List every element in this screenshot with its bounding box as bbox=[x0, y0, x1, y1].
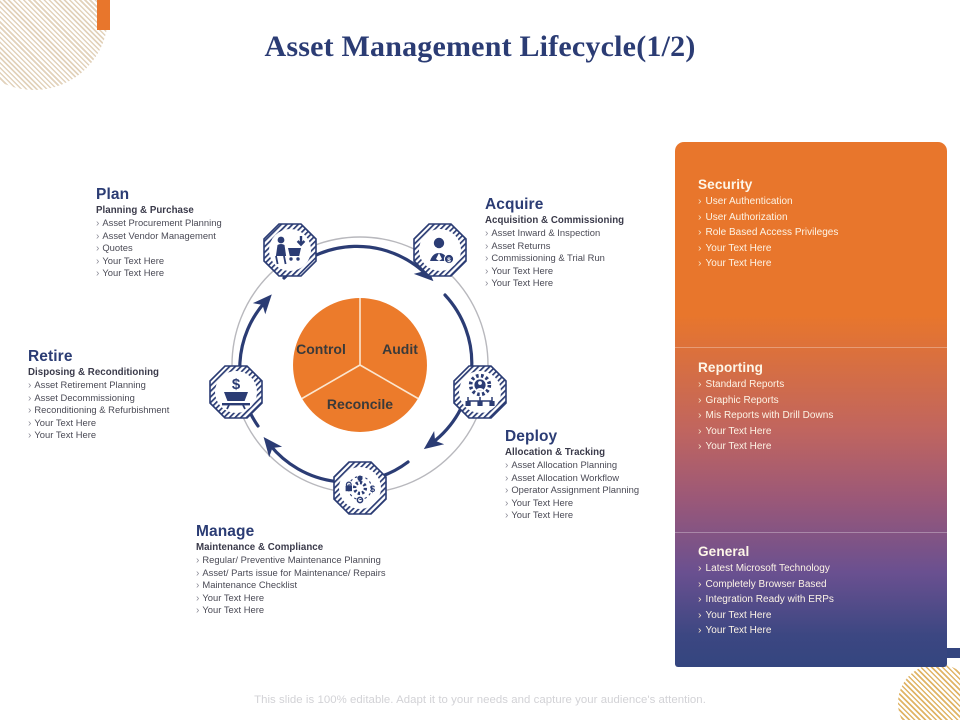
page-title: Asset Management Lifecycle(1/2) bbox=[0, 30, 960, 64]
node-manage-icon: $ bbox=[334, 462, 386, 514]
wheel-label-audit: Audit bbox=[382, 341, 418, 357]
panel-section-general: General Latest Microsoft Technology Comp… bbox=[675, 544, 947, 639]
list-item: Your Text Here bbox=[485, 265, 624, 278]
list-item: Your Text Here bbox=[698, 608, 947, 624]
list-item: Commissioning & Trial Run bbox=[485, 252, 624, 265]
stage-list-retire: Asset Retirement Planning Asset Decommis… bbox=[28, 379, 169, 442]
list-item: Your Text Here bbox=[28, 429, 169, 442]
panel-list-general: Latest Microsoft Technology Completely B… bbox=[698, 561, 947, 639]
stage-subtitle-acquire: Acquisition & Commissioning bbox=[485, 215, 624, 226]
stage-block-acquire: Acquire Acquisition & Commissioning Asse… bbox=[485, 196, 624, 290]
list-item: Your Text Here bbox=[96, 255, 222, 268]
list-item: Your Text Here bbox=[698, 241, 947, 257]
list-item: Graphic Reports bbox=[698, 393, 947, 409]
list-item: Your Text Here bbox=[485, 277, 624, 290]
stage-subtitle-deploy: Allocation & Tracking bbox=[505, 447, 639, 458]
list-item: Asset Allocation Planning bbox=[505, 459, 639, 472]
list-item: Asset Inward & Inspection bbox=[485, 227, 624, 240]
stage-block-manage: Manage Maintenance & Compliance Regular/… bbox=[196, 523, 386, 617]
list-item: Maintenance Checklist bbox=[196, 579, 386, 592]
decorative-bar-top-left-icon bbox=[97, 0, 110, 30]
list-item: Your Text Here bbox=[698, 256, 947, 272]
stage-block-retire: Retire Disposing & Reconditioning Asset … bbox=[28, 348, 169, 442]
stage-list-acquire: Asset Inward & Inspection Asset Returns … bbox=[485, 227, 624, 290]
stage-title-deploy: Deploy bbox=[505, 428, 639, 446]
stage-list-deploy: Asset Allocation Planning Asset Allocati… bbox=[505, 459, 639, 522]
list-item: Your Text Here bbox=[196, 592, 386, 605]
list-item: Mis Reports with Drill Downs bbox=[698, 408, 947, 424]
panel-divider bbox=[675, 532, 947, 533]
panel-title-reporting: Reporting bbox=[698, 360, 947, 375]
list-item: Asset Procurement Planning bbox=[96, 217, 222, 230]
list-item: Asset Returns bbox=[485, 240, 624, 253]
svg-text:$: $ bbox=[232, 376, 241, 393]
list-item: Your Text Here bbox=[505, 509, 639, 522]
feature-panel: Security User Authentication User Author… bbox=[675, 142, 947, 667]
stage-block-deploy: Deploy Allocation & Tracking Asset Alloc… bbox=[505, 428, 639, 522]
list-item: Asset Retirement Planning bbox=[28, 379, 169, 392]
stage-title-retire: Retire bbox=[28, 348, 169, 366]
stage-block-plan: Plan Planning & Purchase Asset Procureme… bbox=[96, 186, 222, 280]
wheel-label-control: Control bbox=[296, 341, 346, 357]
list-item: Asset Decommissioning bbox=[28, 392, 169, 405]
list-item: Completely Browser Based bbox=[698, 577, 947, 593]
stage-subtitle-retire: Disposing & Reconditioning bbox=[28, 367, 169, 378]
stage-title-acquire: Acquire bbox=[485, 196, 624, 214]
list-item: Role Based Access Privileges bbox=[698, 225, 947, 241]
stage-subtitle-manage: Maintenance & Compliance bbox=[196, 542, 386, 553]
stage-subtitle-plan: Planning & Purchase bbox=[96, 205, 222, 216]
list-item: Your Text Here bbox=[96, 267, 222, 280]
list-item: Your Text Here bbox=[698, 439, 947, 455]
panel-list-security: User Authentication User Authorization R… bbox=[698, 194, 947, 272]
list-item: Asset Vendor Management bbox=[96, 230, 222, 243]
panel-section-security: Security User Authentication User Author… bbox=[675, 177, 947, 272]
list-item: Latest Microsoft Technology bbox=[698, 561, 947, 577]
list-item: Your Text Here bbox=[698, 623, 947, 639]
list-item: Operator Assignment Planning bbox=[505, 484, 639, 497]
list-item: Reconditioning & Refurbishment bbox=[28, 404, 169, 417]
list-item: Regular/ Preventive Maintenance Planning bbox=[196, 554, 386, 567]
node-plan-icon bbox=[264, 224, 316, 276]
list-item: Asset Allocation Workflow bbox=[505, 472, 639, 485]
list-item: Your Text Here bbox=[28, 417, 169, 430]
svg-text:$: $ bbox=[447, 257, 451, 264]
node-deploy-icon bbox=[454, 366, 506, 418]
panel-title-general: General bbox=[698, 544, 947, 559]
panel-section-reporting: Reporting Standard Reports Graphic Repor… bbox=[675, 360, 947, 455]
list-item: User Authorization bbox=[698, 210, 947, 226]
list-item: Your Text Here bbox=[698, 424, 947, 440]
stage-list-manage: Regular/ Preventive Maintenance Planning… bbox=[196, 554, 386, 617]
node-acquire-icon: $ bbox=[414, 224, 466, 276]
wheel-label-reconcile: Reconcile bbox=[327, 396, 393, 412]
stage-title-manage: Manage bbox=[196, 523, 386, 541]
decorative-circle-bottom-right-icon bbox=[898, 664, 960, 720]
node-retire-icon: $ bbox=[210, 366, 262, 418]
list-item: User Authentication bbox=[698, 194, 947, 210]
panel-divider bbox=[675, 347, 947, 348]
panel-title-security: Security bbox=[698, 177, 947, 192]
svg-text:$: $ bbox=[370, 483, 376, 494]
list-item: Your Text Here bbox=[196, 604, 386, 617]
list-item: Standard Reports bbox=[698, 377, 947, 393]
list-item: Your Text Here bbox=[505, 497, 639, 510]
list-item: Asset/ Parts issue for Maintenance/ Repa… bbox=[196, 567, 386, 580]
list-item: Integration Ready with ERPs bbox=[698, 592, 947, 608]
list-item: Quotes bbox=[96, 242, 222, 255]
footer-note: This slide is 100% editable. Adapt it to… bbox=[0, 694, 960, 706]
stage-title-plan: Plan bbox=[96, 186, 222, 204]
panel-list-reporting: Standard Reports Graphic Reports Mis Rep… bbox=[698, 377, 947, 455]
stage-list-plan: Asset Procurement Planning Asset Vendor … bbox=[96, 217, 222, 280]
slide-canvas: Asset Management Lifecycle(1/2) bbox=[0, 0, 960, 720]
